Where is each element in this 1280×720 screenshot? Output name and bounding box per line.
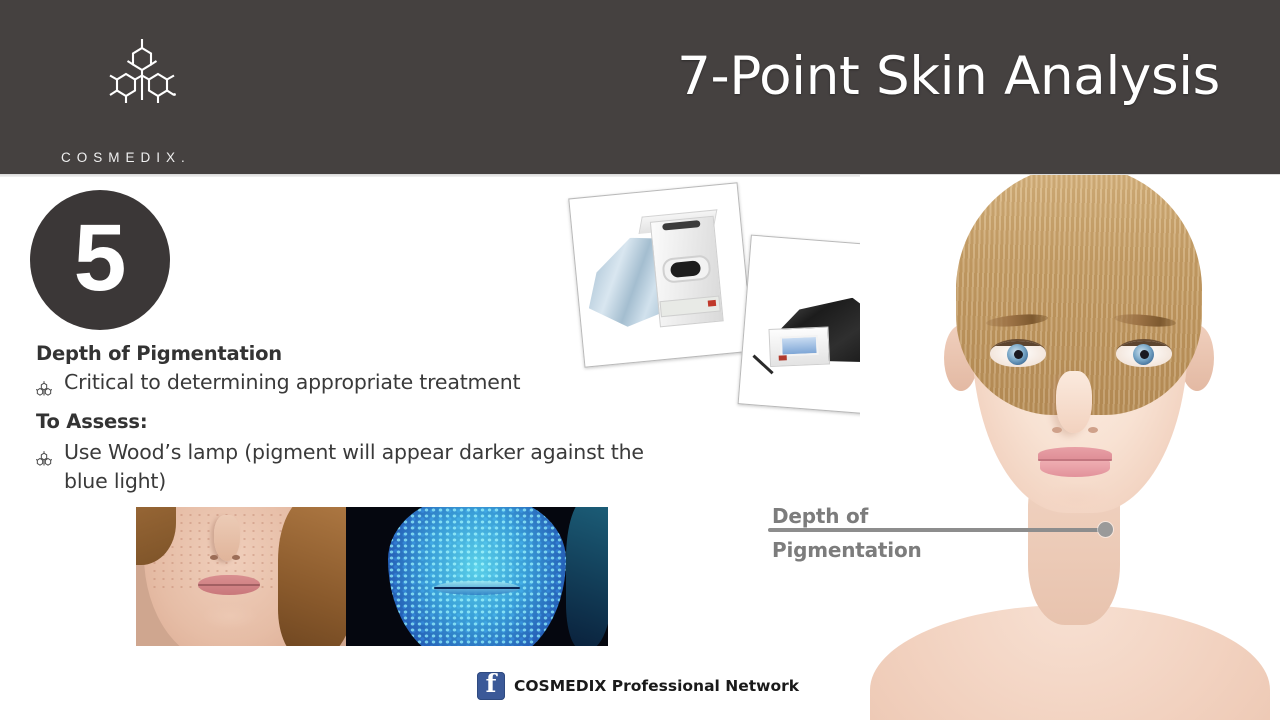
callout-label-line-1: Depth of [772, 500, 1002, 534]
blue-face-hair-shape [566, 507, 608, 646]
callout-label-line-2: Pigmentation [772, 534, 1002, 568]
face-woods-lamp-blue-light-photo [346, 507, 608, 646]
callout-label: Depth of Pigmentation [772, 500, 1002, 567]
model-pupil-left-shape [1014, 350, 1023, 359]
woods-lamp-cabinet-photo [568, 182, 754, 368]
bullet-item-2-line-2: blue light) [64, 467, 726, 496]
model-chin-shape [1036, 483, 1116, 517]
handheld-led-shape [779, 355, 787, 360]
blue-face-pigment-texture [388, 507, 566, 646]
face-nostril-left-shape [210, 555, 218, 560]
bullet-item-1-text: Critical to determining appropriate trea… [64, 368, 726, 397]
model-eye-left-shape [990, 339, 1046, 367]
cosmedix-hexagon-logo-icon [106, 38, 178, 106]
face-normal-light-photo [136, 507, 346, 646]
model-eye-right-shape [1116, 339, 1172, 367]
bullet-item-2-line-1: Use Wood’s lamp (pigment will appear dar… [64, 438, 726, 467]
cabinet-lens-shape [661, 254, 711, 283]
slide-header: COSMEDIX. 7-Point Skin Analysis [0, 0, 1280, 174]
bullet-item-2-text: Use Wood’s lamp (pigment will appear dar… [64, 438, 726, 496]
brand-lockup: COSMEDIX. [58, 38, 228, 148]
face-hair-right-shape [278, 507, 346, 646]
model-lower-lip-shape [1040, 459, 1110, 477]
model-nose-shape [1056, 371, 1092, 433]
callout-point-marker [1098, 522, 1113, 537]
facebook-icon[interactable] [477, 672, 505, 700]
comparison-photo-pair [136, 507, 608, 646]
model-lip-line-shape [1038, 459, 1112, 461]
model-pupil-right-shape [1140, 350, 1149, 359]
face-lip-line-shape [198, 584, 260, 586]
footer-social-link[interactable]: COSMEDIX Professional Network [477, 672, 799, 700]
photo-image-area [576, 190, 746, 360]
page-title: 7-Point Skin Analysis [677, 50, 1220, 103]
face-chin-shape [202, 603, 258, 629]
model-nostril-right-shape [1088, 427, 1098, 433]
point-number-value: 5 [74, 211, 127, 306]
point-number-badge: 5 [30, 190, 170, 330]
footer-label: COSMEDIX Professional Network [514, 677, 799, 695]
handheld-screen-shape [780, 335, 819, 357]
bullet-item-2: Use Wood’s lamp (pigment will appear dar… [36, 438, 726, 496]
female-model-face-photo [860, 175, 1280, 720]
bullet-item-1: Critical to determining appropriate trea… [36, 368, 726, 404]
brand-wordmark: COSMEDIX. [58, 150, 231, 165]
cosmedix-hexagon-bullet-icon [36, 438, 55, 474]
blue-face-lip-line-shape [434, 587, 520, 589]
slide-canvas: COSMEDIX. 7-Point Skin Analysis 5 Depth … [0, 0, 1280, 720]
face-nostril-right-shape [232, 555, 240, 560]
content-text-block: Depth of Pigmentation Critical to determ… [36, 341, 726, 496]
content-subheading: To Assess: [36, 409, 726, 435]
handheld-unit-shape [768, 326, 830, 367]
model-nostril-left-shape [1052, 427, 1062, 433]
cosmedix-hexagon-bullet-icon [36, 368, 55, 404]
